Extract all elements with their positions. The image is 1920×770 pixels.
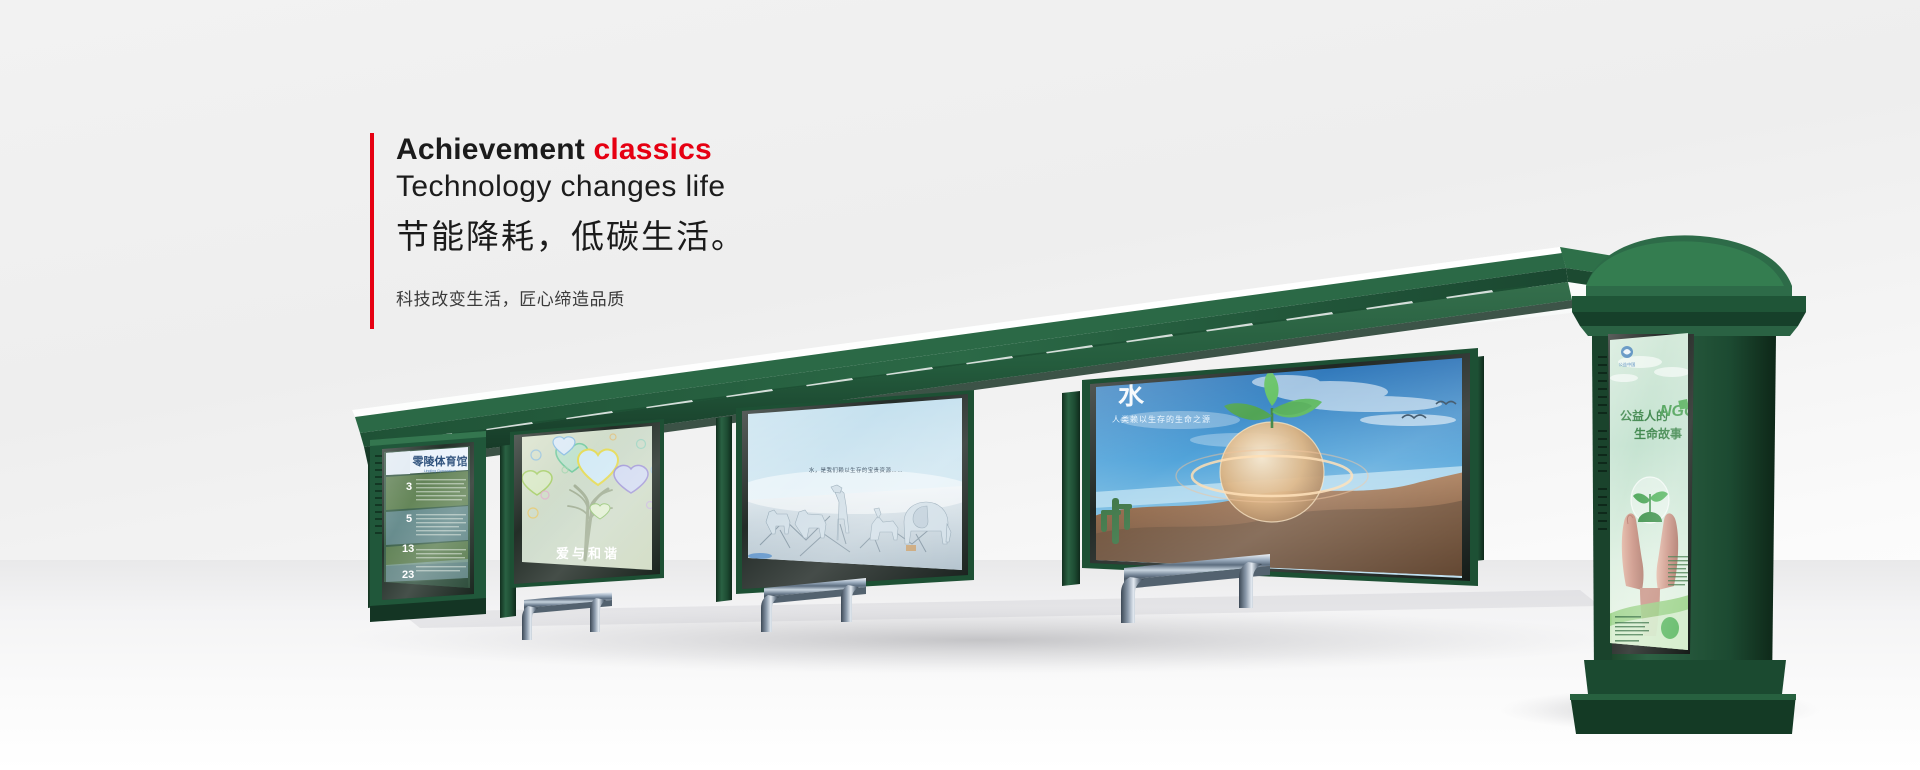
panel-bus-route-board[interactable]: 零陵体育馆 Lingling Gymnasium 3 5 13 23 [370, 431, 486, 622]
post-2 [716, 416, 732, 602]
product-showcase-stage: Achievement classics Technology changes … [0, 0, 1920, 770]
post-3 [1062, 391, 1080, 586]
panel-poster-animals[interactable]: 水，是我们赖以生存的宝贵资源…… [736, 390, 976, 594]
panel-poster-love[interactable]: 爱与和谐 [510, 419, 665, 588]
panel-poster-water[interactable]: 水 人类赖以生存的生命之源 [1082, 348, 1478, 592]
shelter-roof [352, 247, 1760, 447]
bus-shelter-illustration: 零陵体育馆 Lingling Gymnasium 3 5 13 23 [0, 0, 1920, 770]
pillar-lightbox[interactable]: 公益中国 公益人的 生命故事 NGO [1570, 235, 1806, 734]
